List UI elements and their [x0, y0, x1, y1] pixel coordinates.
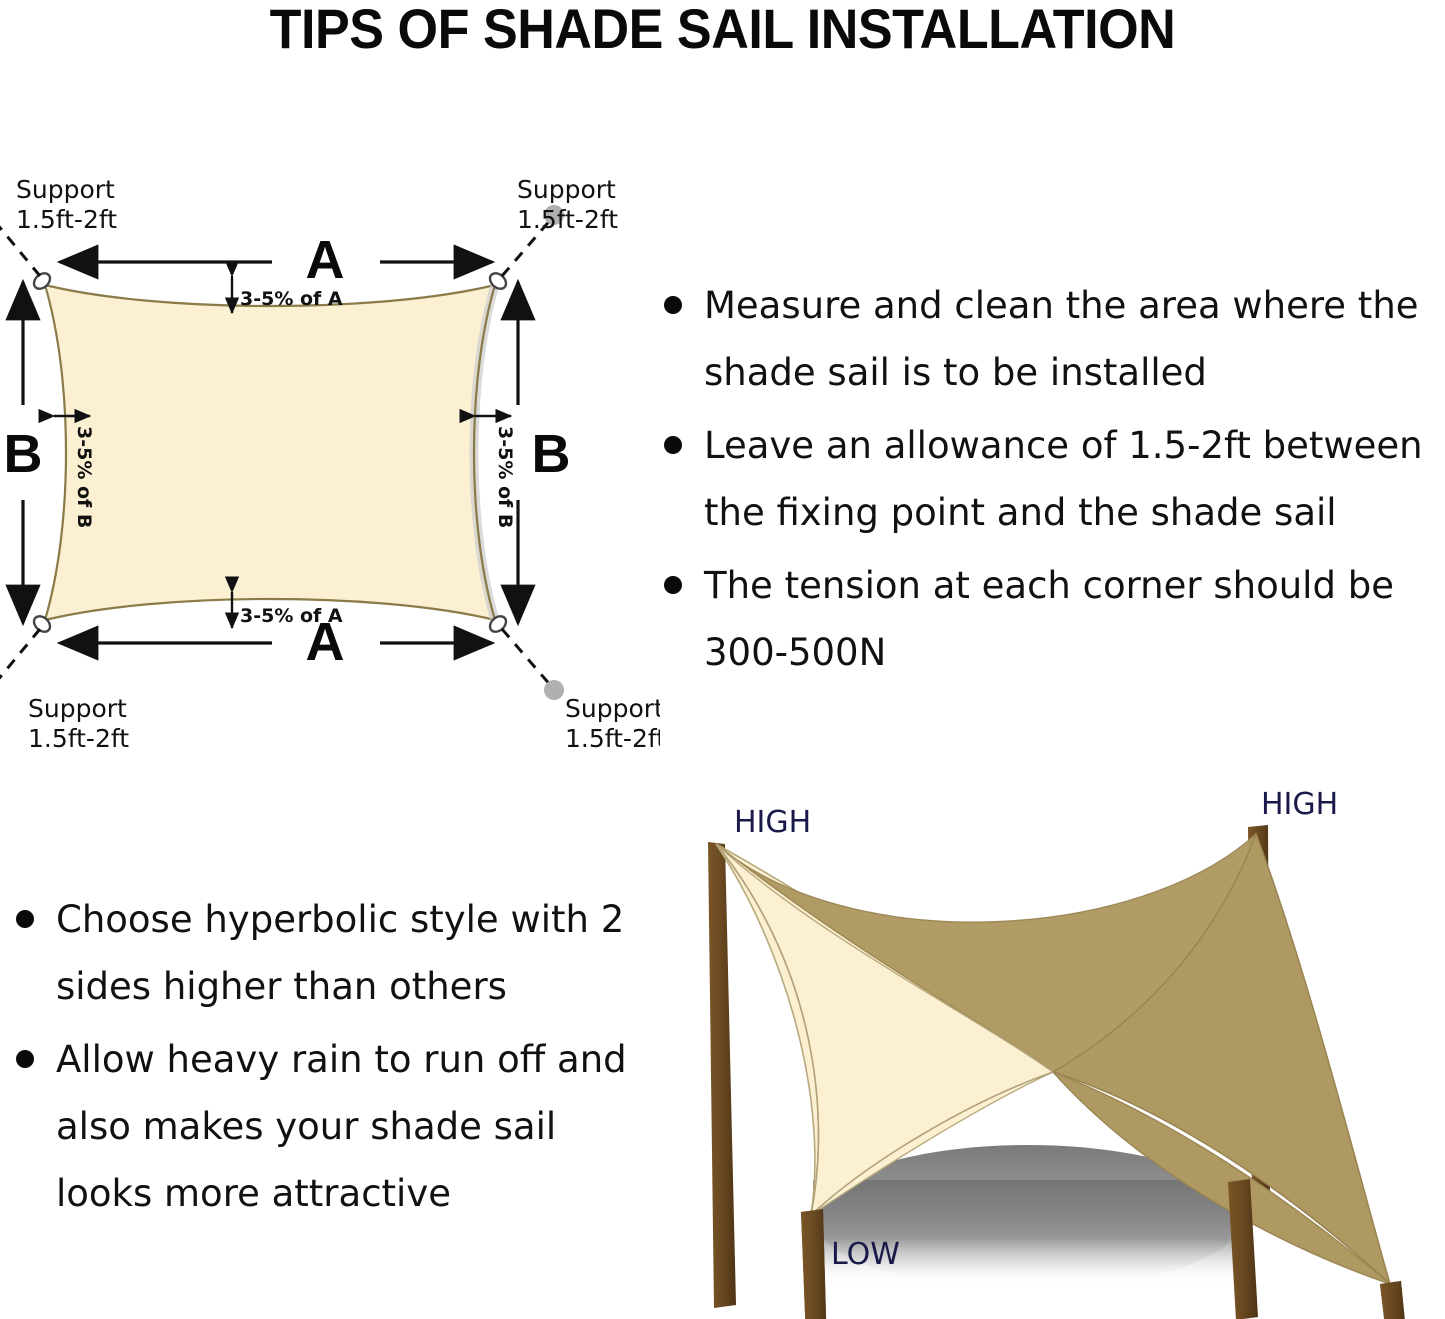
list-item: Allow heavy rain to run off and also mak… — [0, 1026, 640, 1227]
support-label-line2: 1.5ft-2ft — [28, 724, 129, 750]
curve-label-a-top: 3-5% of A — [240, 288, 343, 310]
support-label-line1: Support — [565, 694, 660, 723]
curve-label-b-left: 3-5% of B — [73, 426, 95, 528]
list-item-text: Leave an allowance of 1.5-2ft between th… — [704, 424, 1423, 534]
list-item: Measure and clean the area where the sha… — [648, 272, 1445, 406]
bullet-dot-icon — [16, 1050, 34, 1068]
label-b-right: B — [532, 424, 571, 484]
support-label-top-left: Support 1.5ft-2ft — [16, 175, 117, 234]
list-item: Leave an allowance of 1.5-2ft between th… — [648, 412, 1445, 546]
bullet-dot-icon — [16, 910, 34, 928]
bullet-dot-icon — [664, 296, 682, 314]
list-item-text: Allow heavy rain to run off and also mak… — [56, 1038, 627, 1215]
bullet-dot-icon — [664, 576, 682, 594]
curve-label-a-bottom: 3-5% of A — [240, 605, 343, 627]
list-item: Choose hyperbolic style with 2 sides hig… — [0, 886, 640, 1020]
list-item-text: Measure and clean the area where the sha… — [704, 284, 1419, 394]
support-label-line2: 1.5ft-2ft — [565, 724, 660, 750]
tips-list-bottom: Choose hyperbolic style with 2 sides hig… — [0, 886, 640, 1233]
support-label-line2: 1.5ft-2ft — [517, 205, 618, 234]
support-label-line1: Support — [28, 694, 127, 723]
infographic-page: TIPS OF SHADE SAIL INSTALLATION — [0, 0, 1445, 1319]
bullet-dot-icon — [664, 436, 682, 454]
page-title: TIPS OF SHADE SAIL INSTALLATION — [51, 0, 1395, 62]
support-dashed-line — [0, 629, 40, 687]
label-b-left: B — [4, 424, 43, 484]
list-item: The tension at each corner should be 300… — [648, 552, 1445, 686]
label-high-left: HIGH — [734, 805, 811, 840]
label-a-top: A — [306, 230, 345, 290]
tips-list-right: Measure and clean the area where the sha… — [648, 272, 1445, 692]
rect-sail-diagram: A 3-5% of A A 3-5% of A B 3-5% of B B 3-… — [0, 150, 660, 750]
support-label-bottom-right: Support 1.5ft-2ft — [565, 694, 660, 750]
label-high-right: HIGH — [1261, 787, 1338, 822]
support-anchor-dot — [544, 680, 564, 700]
support-label-top-right: Support 1.5ft-2ft — [517, 175, 618, 234]
post-high-left — [708, 842, 736, 1308]
sail-shape — [45, 285, 495, 620]
support-label-bottom-left: Support 1.5ft-2ft — [28, 694, 129, 750]
support-label-line1: Support — [16, 175, 115, 204]
support-label-line1: Support — [517, 175, 616, 204]
support-label-line2: 1.5ft-2ft — [16, 205, 117, 234]
curve-label-b-right: 3-5% of B — [494, 426, 516, 528]
post-low-right-front — [1380, 1281, 1406, 1319]
hyperbolic-sail-diagram: HIGH HIGH LOW LOW — [668, 772, 1445, 1319]
list-item-text: The tension at each corner should be 300… — [704, 564, 1394, 674]
support-dashed-line — [502, 629, 552, 687]
label-low-left: LOW — [831, 1237, 900, 1272]
list-item-text: Choose hyperbolic style with 2 sides hig… — [56, 898, 624, 1008]
